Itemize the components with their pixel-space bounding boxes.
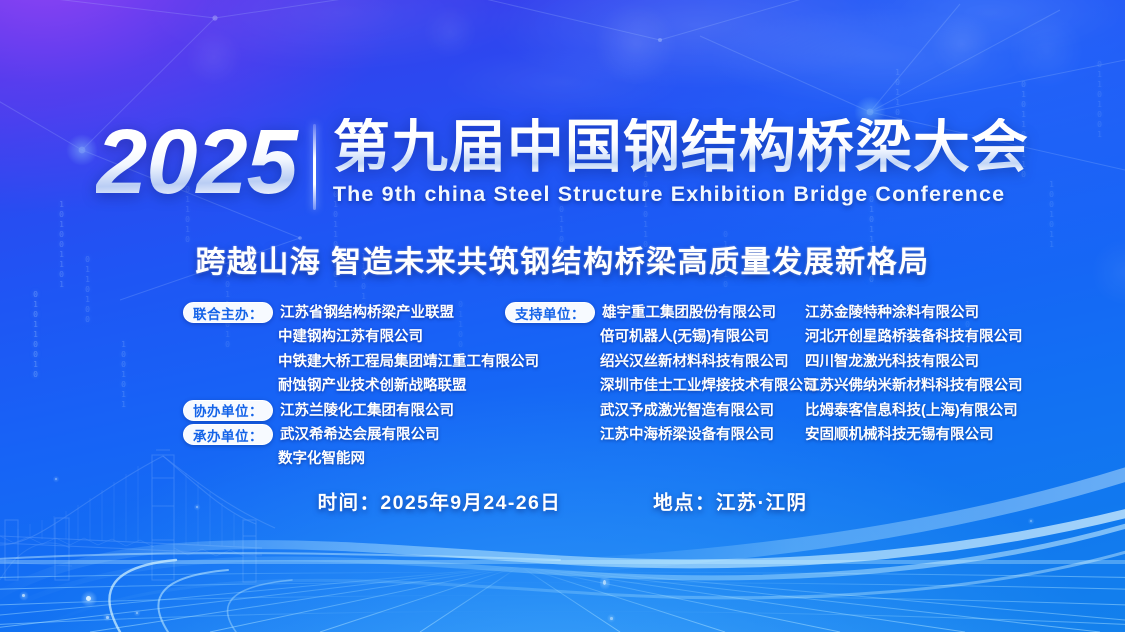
supporter-row: 四川智龙激光科技有限公司: [805, 350, 1033, 374]
supporter-row: 武汉予成激光智造有限公司: [505, 399, 805, 423]
list-item: 四川智龙激光科技有限公司: [805, 350, 979, 374]
co-host-row: 中建钢构江苏有限公司: [183, 325, 505, 349]
supporter-row: 绍兴汉丝新材料科技有限公司: [505, 350, 805, 374]
slogan-text: 跨越山海 智造未来共筑钢结构桥梁高质量发展新格局: [0, 237, 1125, 281]
list-item: 江苏中海桥梁设备有限公司: [593, 423, 774, 447]
supporter-row: 倍可机器人(无锡)有限公司: [505, 325, 805, 349]
title-block: 第九届中国钢结构桥梁大会 The 9th china Steel Structu…: [316, 118, 1029, 207]
co-host-row: 耐蚀钢产业技术创新战略联盟: [183, 374, 505, 398]
event-place: 地点：江苏·江阴: [653, 486, 807, 515]
list-item: 河北开创星路桥装备科技有限公司: [805, 325, 1023, 349]
supporter-row: 江苏兴佛纳米新材料科技有限公司: [805, 374, 1033, 398]
list-item: 中铁建大桥工程局集团靖江重工有限公司: [271, 350, 539, 374]
list-item: 耐蚀钢产业技术创新战略联盟: [271, 374, 467, 398]
supporter-row: 河北开创星路桥装备科技有限公司: [805, 325, 1033, 349]
supporter-row: 支持单位： 雄宇重工集团股份有限公司: [505, 301, 805, 325]
list-item: 武汉予成激光智造有限公司: [593, 399, 774, 423]
supporters-column-b: 江苏金陵特种涂料有限公司 河北开创星路桥装备科技有限公司 四川智龙激光科技有限公…: [805, 301, 1033, 472]
co-host-row: 中铁建大桥工程局集团靖江重工有限公司: [183, 350, 505, 374]
page-title: 第九届中国钢结构桥梁大会: [333, 118, 1029, 176]
event-time: 时间：2025年9月24-26日: [318, 486, 562, 515]
co-host-label: 联合主办：: [183, 302, 273, 323]
co-organizer-label: 协办单位：: [183, 400, 273, 421]
supporter-row: 江苏中海桥梁设备有限公司: [505, 423, 805, 447]
supporter-row: 比姆泰客信息科技(上海)有限公司: [805, 399, 1033, 423]
co-host-row: 联合主办： 江苏省钢结构桥梁产业联盟: [183, 301, 505, 325]
supporter-row: 安固顺机械科技无锡有限公司: [805, 423, 1033, 447]
banner-content: 2025 第九届中国钢结构桥梁大会 The 9th china Steel St…: [0, 0, 1125, 632]
list-item: 比姆泰客信息科技(上海)有限公司: [805, 399, 1018, 423]
title-row: 2025 第九届中国钢结构桥梁大会 The 9th china Steel St…: [0, 118, 1125, 210]
list-item: 江苏兴佛纳米新材料科技有限公司: [805, 374, 1023, 398]
supporter-row: 深圳市佳士工业焊接技术有限公司: [505, 374, 805, 398]
list-item: 深圳市佳士工业焊接技术有限公司: [593, 374, 818, 398]
list-item: 安固顺机械科技无锡有限公司: [805, 423, 994, 447]
list-item: 江苏兰陵化工集团有限公司: [273, 399, 454, 423]
list-item: 绍兴汉丝新材料科技有限公司: [593, 350, 789, 374]
list-item: 倍可机器人(无锡)有限公司: [593, 325, 769, 349]
organizers-section: 联合主办： 江苏省钢结构桥梁产业联盟 中建钢构江苏有限公司 中铁建大桥工程局集团…: [183, 301, 1033, 472]
year-2025: 2025: [96, 118, 313, 206]
list-item: 数字化智能网: [271, 447, 365, 471]
event-place-label: 地点：: [653, 492, 716, 514]
list-item: 江苏金陵特种涂料有限公司: [805, 301, 979, 325]
undertaker-row: 承办单位： 武汉希希达会展有限公司: [183, 423, 505, 447]
event-time-value: 2025年9月24-26日: [380, 492, 561, 514]
conference-banner: 010110010 101001101 0110100 1001011 0110…: [0, 0, 1125, 632]
supporters-column-a: 支持单位： 雄宇重工集团股份有限公司 倍可机器人(无锡)有限公司 绍兴汉丝新材料…: [505, 301, 805, 472]
list-item: 雄宇重工集团股份有限公司: [595, 301, 776, 325]
list-item: 江苏省钢结构桥梁产业联盟: [273, 301, 454, 325]
undertaker-label: 承办单位：: [183, 424, 273, 445]
undertaker-row: 数字化智能网: [183, 447, 505, 471]
event-meta: 时间：2025年9月24-26日 地点：江苏·江阴: [0, 486, 1125, 515]
supporter-row: 江苏金陵特种涂料有限公司: [805, 301, 1033, 325]
event-place-value: 江苏·江阴: [716, 492, 808, 514]
supporters-label: 支持单位：: [505, 302, 595, 323]
subtitle-english: The 9th china Steel Structure Exhibition…: [333, 182, 1029, 207]
event-time-label: 时间：: [318, 492, 381, 514]
organizers-column-left: 联合主办： 江苏省钢结构桥梁产业联盟 中建钢构江苏有限公司 中铁建大桥工程局集团…: [183, 301, 505, 472]
list-item: 武汉希希达会展有限公司: [273, 423, 440, 447]
list-item: 中建钢构江苏有限公司: [271, 325, 423, 349]
co-organizer-row: 协办单位： 江苏兰陵化工集团有限公司: [183, 399, 505, 423]
